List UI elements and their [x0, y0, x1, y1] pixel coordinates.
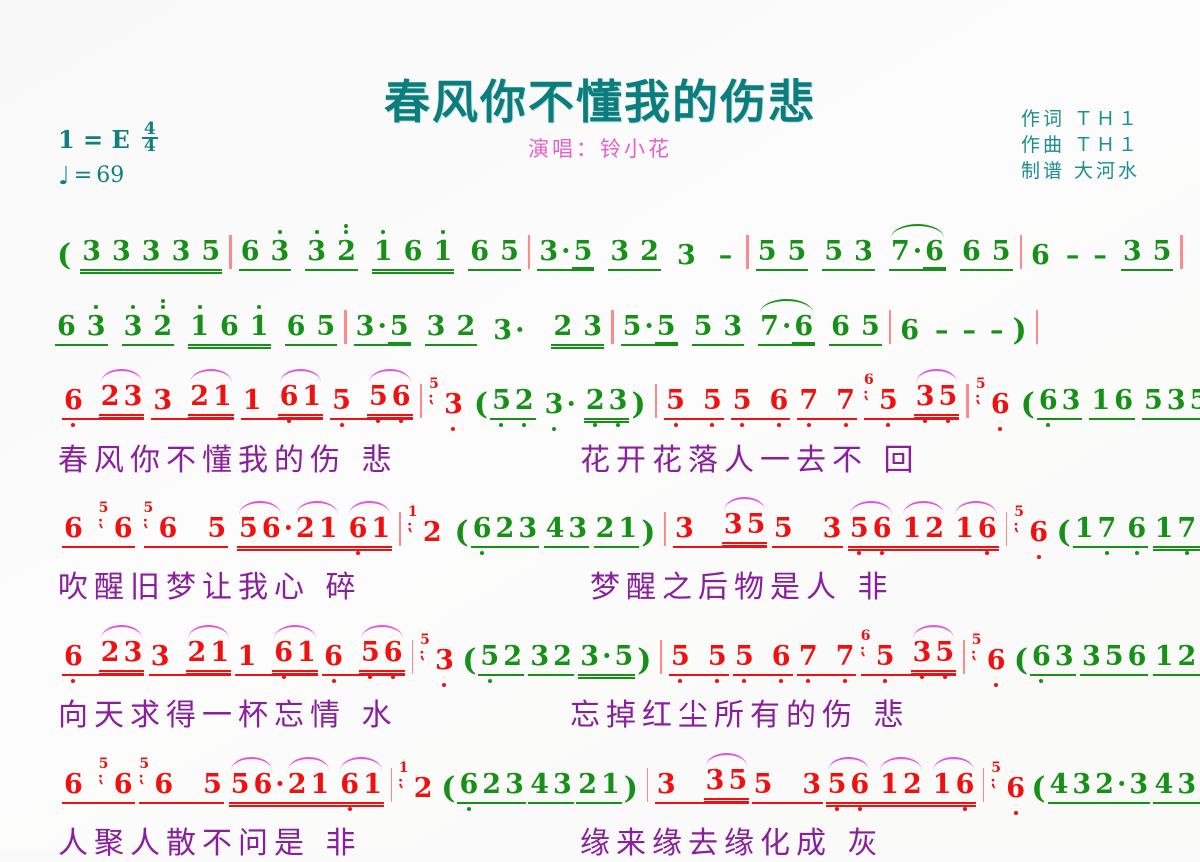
augmentation-dot: ·	[601, 642, 612, 672]
note: 1	[1073, 514, 1096, 544]
note: 6	[152, 770, 175, 800]
note: 3	[800, 770, 823, 800]
grace-curl-icon: ⁏	[99, 770, 105, 785]
barline	[1006, 512, 1008, 546]
beam-group: 53	[822, 237, 875, 271]
note: 3	[581, 312, 604, 342]
note: 3	[852, 237, 875, 267]
note: 3	[491, 316, 514, 346]
grace-curl-icon: ⁏	[991, 774, 997, 789]
note: 6	[157, 514, 180, 544]
beam-group: 3·5	[537, 237, 594, 271]
note: 6	[954, 770, 977, 800]
note: 3	[425, 312, 448, 342]
note: 1	[361, 770, 384, 800]
note: 4	[528, 770, 551, 800]
note: 1	[211, 382, 234, 412]
phrase-open-paren: (	[439, 774, 457, 804]
note: 1	[235, 642, 258, 672]
beam-group: 161	[235, 638, 317, 676]
tempo-value: 69	[96, 163, 124, 188]
barline	[1036, 310, 1039, 344]
note: 2	[294, 514, 317, 544]
note: 5	[706, 642, 729, 672]
note: 6	[829, 312, 852, 342]
note: 5	[874, 642, 897, 672]
note: 1	[616, 514, 639, 544]
duration-dash: –	[1059, 241, 1087, 271]
note: 1	[300, 382, 323, 412]
note: 6	[468, 237, 491, 267]
barline	[399, 512, 401, 546]
note: 7	[797, 386, 820, 416]
beam-group: 32	[305, 237, 358, 271]
phrase-close-paren: )	[622, 774, 640, 804]
note: 5	[572, 237, 595, 269]
note: 1	[295, 638, 318, 668]
note: 6	[923, 237, 946, 269]
note: 5	[1151, 237, 1174, 267]
duration-dash: –	[712, 241, 740, 271]
note: 6	[402, 237, 425, 267]
note: 7	[834, 642, 857, 672]
note: 5	[752, 770, 775, 800]
beam-group: 56	[731, 386, 791, 420]
grace-curl-icon: ⁏	[864, 386, 870, 401]
phrase-close-paren: )	[1011, 316, 1029, 346]
phrase-close-paren: )	[635, 646, 653, 676]
note: 2	[188, 382, 211, 412]
note: 5	[478, 642, 501, 672]
note: 3	[1070, 770, 1093, 800]
note: 5	[731, 386, 754, 416]
note: 5	[1188, 386, 1200, 416]
beam-group: 623	[471, 514, 539, 548]
duration-dash: –	[928, 316, 956, 346]
note: 3	[503, 770, 526, 800]
augmentation-dot: ·	[1116, 770, 1127, 800]
note: 6	[278, 382, 301, 412]
note: 4	[1048, 770, 1071, 800]
note: 3	[1175, 770, 1198, 800]
note: 5	[877, 386, 900, 416]
note: 5	[388, 312, 411, 344]
beam-group: 63	[55, 312, 108, 346]
note: 1	[241, 386, 264, 416]
note: 6	[62, 642, 85, 672]
lyric-line-1b: 花开花落人一去不 回	[580, 435, 920, 479]
barline	[647, 768, 648, 802]
grace-note-group: 5⁏6	[991, 774, 1027, 804]
beam-group: 53	[772, 514, 844, 548]
beam-group: 432·3	[1048, 770, 1151, 804]
beam-group: 55	[669, 642, 729, 676]
note: 3	[675, 241, 698, 271]
note: 1	[248, 312, 271, 342]
lyric-line-2a: 吹醒旧梦让我心 碎	[58, 562, 362, 606]
lyric-line-1a: 春风你不懂我的伤 悲	[58, 435, 398, 479]
beam-group: 6⁏535	[861, 638, 956, 676]
note: 5	[655, 312, 678, 344]
barline	[746, 235, 749, 269]
note: 2	[551, 312, 574, 342]
note: 6	[792, 312, 815, 344]
note: 6	[985, 646, 1008, 676]
note: 5	[733, 642, 756, 672]
grace-note-group: 5⁏6	[1014, 518, 1050, 548]
augmentation-dot: ·	[912, 237, 923, 267]
augmentation-dot: ·	[781, 312, 792, 342]
grace-curl-icon: ⁏	[976, 390, 982, 405]
time-signature-denominator: 4	[142, 139, 158, 154]
note: 3	[914, 382, 937, 412]
note: 2	[594, 514, 617, 544]
beam-group: 63	[1030, 642, 1076, 676]
beam-group: 63	[1037, 386, 1083, 420]
note: 5	[621, 312, 644, 342]
beam-group: 52	[478, 642, 524, 676]
beam-group: 5⁏65	[139, 770, 224, 804]
barline	[344, 310, 347, 344]
note: 1	[317, 514, 340, 544]
note: 2	[923, 514, 946, 544]
note: 6	[1125, 514, 1148, 544]
note: 5	[726, 766, 749, 796]
note: 5	[199, 237, 222, 267]
note: 6	[112, 770, 135, 800]
note: 6	[322, 642, 345, 672]
beam-group: 55	[756, 237, 809, 271]
beam-group: 161	[188, 312, 270, 346]
beam-group: 16	[1089, 386, 1135, 420]
note: 3	[578, 642, 601, 672]
note: 4	[544, 514, 567, 544]
beam-group: 65⁏6	[62, 770, 135, 804]
note: 3	[268, 237, 291, 267]
beam-group: 656	[322, 638, 404, 676]
beam-group: 623	[62, 382, 144, 420]
note: 2	[1175, 642, 1198, 672]
note: 5	[1142, 386, 1165, 416]
barline	[528, 235, 531, 269]
barline	[420, 384, 423, 418]
augmentation-dot: ·	[376, 312, 387, 342]
lyric-line-3a: 向天求得一杯忘情 水	[58, 690, 398, 734]
note: 6	[1126, 642, 1149, 672]
note: 3	[170, 237, 193, 267]
note: 3	[151, 386, 174, 416]
grace-curl-icon: ⁏	[408, 518, 414, 533]
note: 2	[501, 642, 524, 672]
note: 6	[260, 514, 283, 544]
note: 3	[433, 646, 456, 676]
beam-group: 535	[1142, 386, 1200, 420]
beam-group: 65	[468, 237, 521, 271]
beam-group: 3·5	[578, 642, 635, 676]
grace-note-group: 5⁏6	[976, 390, 1012, 420]
beam-group: 5·5	[621, 312, 678, 346]
note: 1	[208, 638, 231, 668]
barline	[1180, 235, 1183, 269]
note: 2	[494, 514, 517, 544]
note: 5	[669, 642, 692, 672]
stave-intro-line-1: ( 33335 63 32 161 65 3·5 32 3– 55 53 7·6…	[55, 235, 1200, 271]
barline	[655, 384, 658, 418]
key-signature: 1 = E	[58, 125, 130, 154]
key-tempo-block: 1 = E 4 4 ♩ = 69	[58, 125, 158, 188]
augmentation-dot: ·	[560, 237, 571, 267]
note: 6	[898, 316, 921, 346]
beam-group: 65	[285, 312, 338, 346]
beam-group: 32	[425, 312, 478, 346]
note: 2	[151, 312, 174, 342]
note: 1	[372, 237, 395, 267]
note: 2	[1093, 770, 1116, 800]
note: 3	[85, 312, 108, 342]
note: 3	[80, 237, 103, 267]
note: 3	[655, 770, 678, 800]
note: 6	[382, 638, 405, 668]
duration-dash: –	[983, 316, 1011, 346]
note: 3	[537, 237, 560, 267]
time-signature: 4 4	[142, 122, 158, 154]
note: 5	[359, 638, 382, 668]
note: 6	[1029, 241, 1052, 271]
note: 3	[149, 642, 172, 672]
slurred-group: 7·6	[758, 312, 815, 346]
note: 1	[1153, 642, 1176, 672]
grace-curl-icon: ⁏	[99, 514, 105, 529]
note: 6	[239, 237, 262, 267]
note: 3	[704, 766, 727, 796]
note: 3	[354, 312, 377, 342]
grace-curl-icon: ⁏	[861, 642, 867, 657]
beam-group: 77	[797, 642, 857, 676]
beam-group: 1765	[1153, 514, 1200, 548]
note: 6	[285, 312, 308, 342]
beam-group: 1235	[1153, 642, 1200, 676]
note: 3	[1060, 386, 1083, 416]
note: 5	[498, 237, 521, 267]
phrase-close-paren: )	[629, 390, 647, 420]
note: 3	[1165, 386, 1188, 416]
note: 6	[1030, 642, 1053, 672]
note: 1	[953, 514, 976, 544]
note: 5	[937, 382, 960, 412]
note: 3	[140, 237, 163, 267]
beam-group: 65⁏6	[62, 514, 135, 548]
note: 6	[1004, 774, 1027, 804]
note: 5	[237, 514, 260, 544]
note: 1	[1153, 514, 1176, 544]
note: 2	[584, 386, 607, 416]
note: 2	[454, 312, 477, 342]
note: 1	[599, 770, 622, 800]
credit-lyricist: 作词 ＴＨ１	[1021, 106, 1140, 132]
beam-group: 623	[62, 638, 144, 676]
grace-note-group: 1⁏2	[399, 774, 435, 804]
phrase-open-paren: (	[1055, 518, 1073, 548]
beam-group: 23	[551, 312, 604, 346]
beam-group: 33335	[80, 237, 222, 271]
beam-group: 23	[584, 386, 630, 420]
beam-group: 32	[608, 237, 661, 271]
note: 5	[848, 514, 871, 544]
note: 5	[786, 237, 809, 267]
note: 3	[673, 514, 696, 544]
note: 1	[369, 514, 392, 544]
augmentation-dot: ·	[274, 770, 285, 800]
beam-group: 65	[960, 237, 1013, 271]
grace-note-group: 5⁏3	[420, 646, 456, 676]
note: 3	[516, 514, 539, 544]
credits-block: 作词 ＴＨ１ 作曲 ＴＨ１ 制谱 大河水	[1021, 106, 1140, 184]
note: 3	[543, 390, 566, 420]
note: 3	[122, 638, 145, 668]
note: 1	[431, 237, 454, 267]
slurred-group: 7·6	[889, 237, 946, 271]
phrase-open-paren: (	[472, 390, 490, 420]
note: 6	[770, 642, 793, 672]
grace-curl-icon: ⁏	[144, 514, 150, 529]
beam-group: 43	[528, 770, 574, 804]
note: 5	[692, 312, 715, 342]
note: 2	[99, 382, 122, 412]
note: 3	[122, 312, 145, 342]
note: 2	[513, 386, 536, 416]
note: 3	[442, 390, 465, 420]
note: 6	[1112, 386, 1135, 416]
note: 2	[551, 642, 574, 672]
note: 3	[528, 642, 551, 672]
lyric-line-3b: 忘掉红尘所有的伤 悲	[570, 690, 910, 734]
note: 5	[756, 237, 779, 267]
barline	[889, 310, 892, 344]
note: 5	[314, 312, 337, 342]
note: 5	[205, 514, 228, 544]
barline	[1020, 235, 1023, 269]
note: 7	[1175, 514, 1198, 544]
note: 6	[768, 386, 791, 416]
beam-group: 32	[122, 312, 175, 346]
phrase-open-paren: (	[1029, 774, 1047, 804]
note: 7	[889, 237, 912, 267]
beam-group: 321	[149, 638, 231, 676]
phrase-open-paren: (	[1019, 390, 1037, 420]
beam-group: 335	[673, 510, 767, 548]
beam-group: 53	[692, 312, 745, 346]
note: 5	[859, 312, 882, 342]
note: 5	[201, 770, 224, 800]
note: 5	[701, 386, 724, 416]
note: 3	[1053, 642, 1076, 672]
note: 6	[960, 237, 983, 267]
beam-group: 56	[733, 642, 793, 676]
beam-group: 623	[457, 770, 525, 804]
duration-dash: –	[1086, 241, 1114, 271]
barline	[229, 235, 232, 269]
grace-note-group: 5⁏3	[429, 390, 465, 420]
phrase-open-paren: (	[55, 241, 73, 271]
note: 7	[758, 312, 781, 342]
augmentation-dot: ·	[514, 316, 525, 346]
note: 1	[878, 770, 901, 800]
note: 3	[608, 237, 631, 267]
note: 2	[576, 770, 599, 800]
note: 5	[933, 638, 956, 668]
note: 3	[1121, 237, 1144, 267]
beam-group: 65	[829, 312, 882, 346]
beam-group: 561216	[826, 770, 977, 804]
beam-group: 52	[490, 386, 536, 420]
note: 3	[122, 382, 145, 412]
note: 6	[62, 386, 85, 416]
note: 5	[367, 382, 390, 412]
note: 3	[911, 638, 934, 668]
lyric-line-2b: 梦醒之后物是人 非	[590, 562, 894, 606]
note: 5	[826, 770, 849, 800]
note: 6	[347, 514, 370, 544]
lyric-line-4b: 缘来缘去缘化成 灰	[580, 818, 884, 862]
beam-group: 335	[655, 766, 749, 804]
note: 3	[551, 770, 574, 800]
note: 5	[330, 386, 353, 416]
phrase-open-paren: (	[460, 646, 478, 676]
credit-composer: 作曲 ＴＨ１	[1021, 132, 1140, 158]
note: 2	[99, 638, 122, 668]
stave-verse-1: 623 321 161 556 5⁏3 ( 52 3· 23 ) 55 56 7…	[62, 382, 1200, 420]
note: 3	[722, 510, 745, 540]
augmentation-dot: ·	[283, 514, 294, 544]
beam-group: 56·2161	[229, 770, 384, 804]
note: 1	[931, 770, 954, 800]
grace-curl-icon: ⁏	[420, 646, 426, 661]
beam-group: 5⁏65	[144, 514, 229, 548]
note: 4	[1153, 770, 1176, 800]
note: 6	[457, 770, 480, 800]
note: 3	[821, 514, 844, 544]
beam-group: 4321	[1153, 770, 1200, 804]
beam-group: 77	[797, 386, 857, 420]
quarter-note-icon: ♩	[58, 166, 70, 186]
stave-intro-line-2: 63 32 161 65 3·5 32 3· 23 5·5 53 7·6 65 …	[55, 310, 1200, 346]
note: 2	[335, 237, 358, 267]
barline	[611, 310, 614, 344]
beam-group: 6⁏535	[864, 382, 959, 420]
note: 2	[480, 770, 503, 800]
beam-group: 21	[594, 514, 640, 548]
grace-curl-icon: ⁏	[1014, 518, 1020, 533]
note: 1	[901, 514, 924, 544]
beam-group: 32	[528, 642, 574, 676]
note: 6	[1027, 518, 1050, 548]
phrase-open-paren: (	[453, 518, 471, 548]
note: 6	[871, 514, 894, 544]
note: 6	[471, 514, 494, 544]
beam-group: 161	[241, 382, 323, 420]
beam-group: 3·5	[354, 312, 411, 346]
beam-group: 53	[752, 770, 824, 804]
beam-group: 321	[151, 382, 233, 420]
beam-group: 161	[372, 237, 454, 271]
barline	[664, 512, 666, 546]
phrase-close-paren: )	[639, 518, 657, 548]
augmentation-dot: ·	[565, 390, 576, 420]
note: 3	[721, 312, 744, 342]
note: 6	[848, 770, 871, 800]
note: 6	[989, 390, 1012, 420]
note: 5	[822, 237, 845, 267]
